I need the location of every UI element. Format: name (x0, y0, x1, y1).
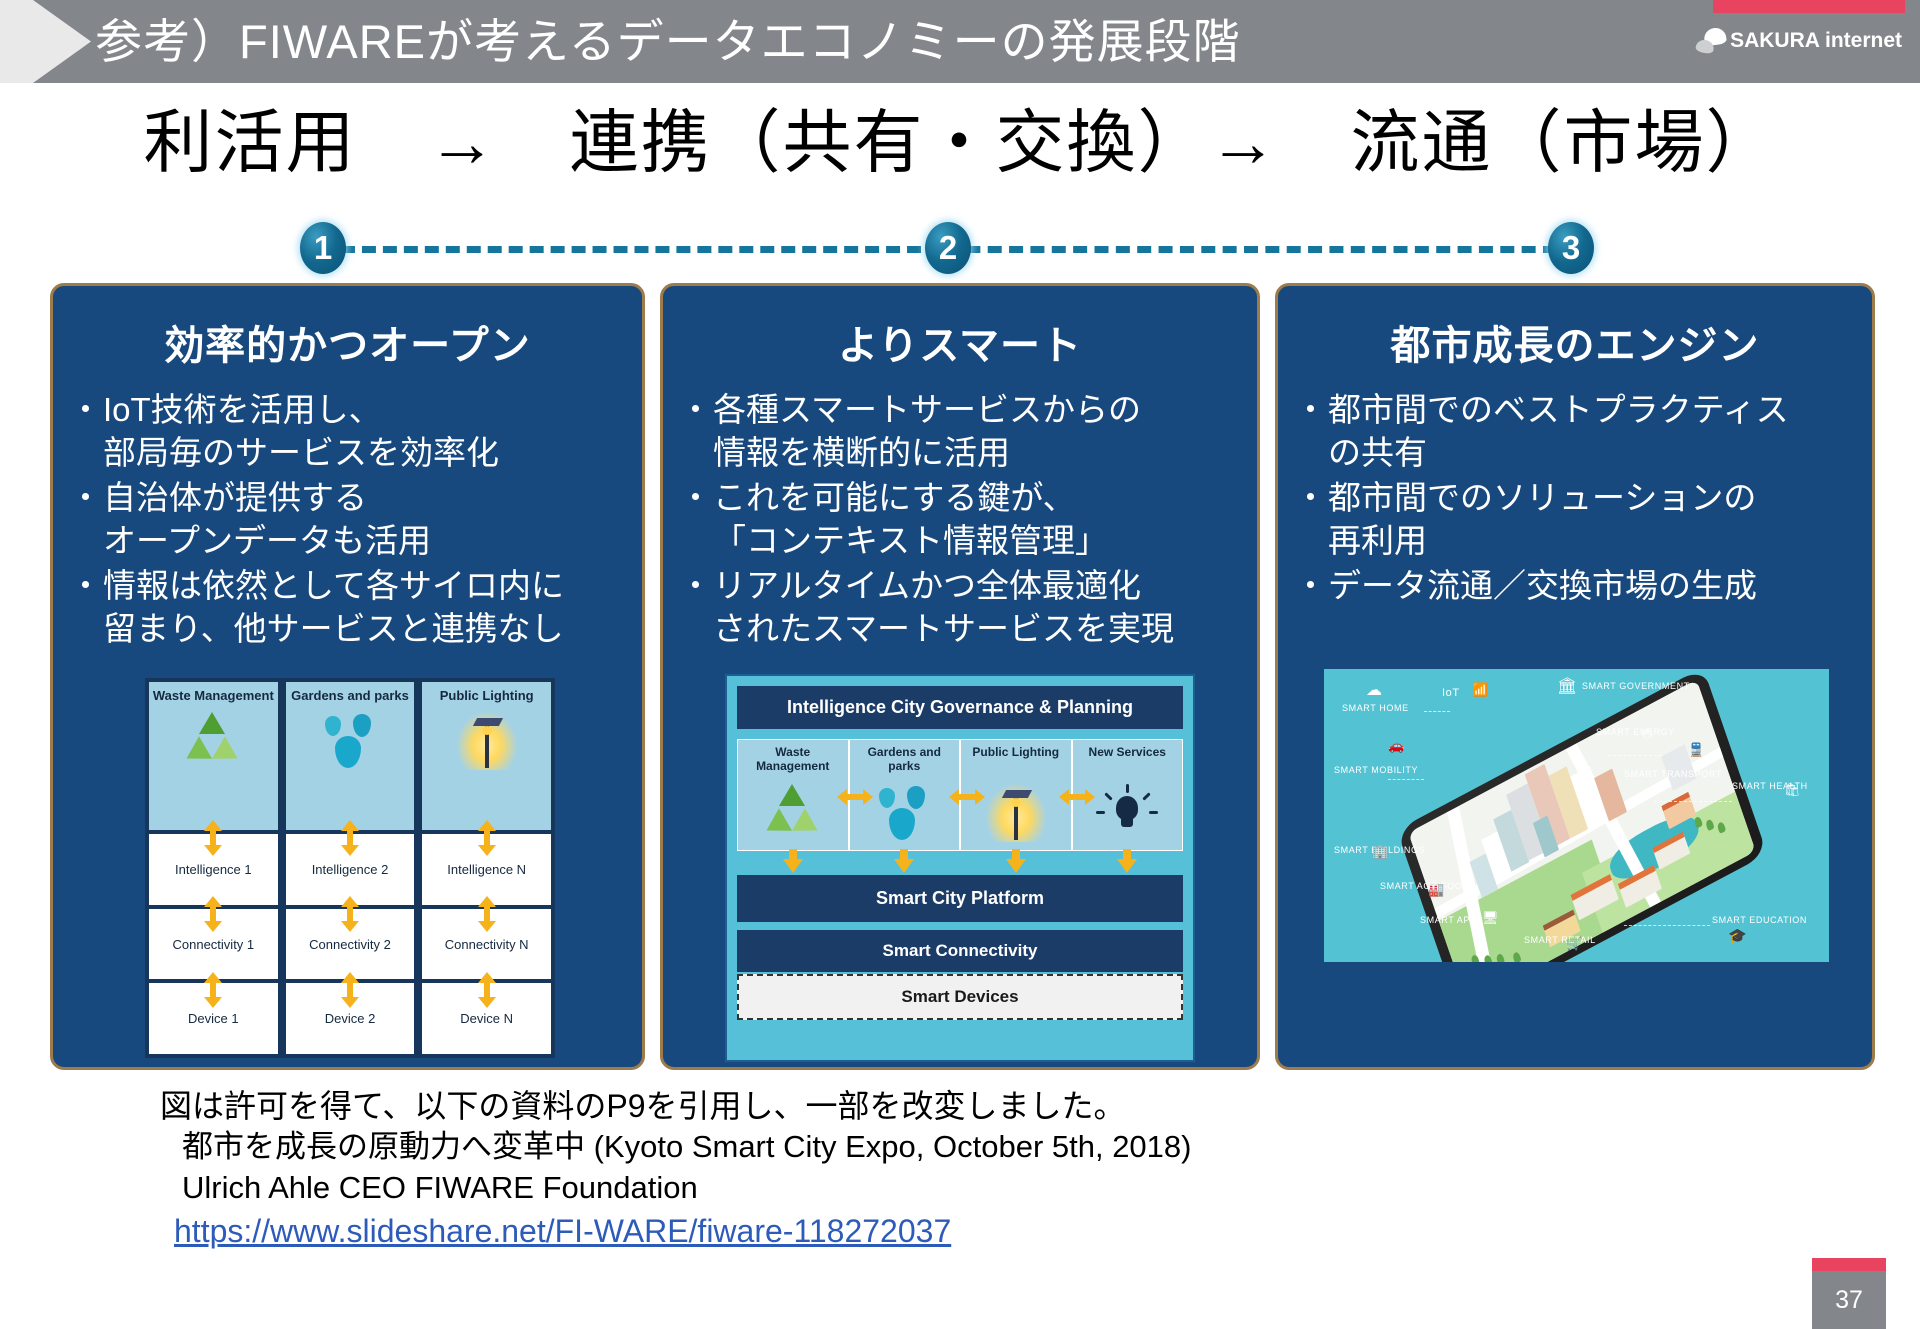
card-3-title: 都市成長のエンジン (1278, 313, 1872, 371)
barn-icon: 🏭 (1428, 883, 1444, 896)
down-arrow-row (737, 849, 1183, 873)
step-badge-2: 2 (925, 222, 971, 274)
power-icon: ⏻ (1642, 727, 1652, 740)
footnote-line-2: 都市を成長の原動力へ変革中 (Kyoto Smart City Expo, Oc… (160, 1127, 1560, 1168)
platform-diagram-figure: Intelligence City Governance & Planning … (725, 674, 1195, 1062)
iot-label: IoT (1442, 687, 1460, 700)
bullet-line: 情報を横断的に活用 (713, 432, 1249, 475)
water-drops-icon (873, 784, 935, 842)
main-headline: 利活用 → 連携（共有・交換）→ 流通（市場） (0, 86, 1920, 186)
governance-bar: Intelligence City Governance & Planning (737, 686, 1183, 729)
office-building-icon: 🏢 (1372, 845, 1388, 858)
silo-column: Waste Management Intelligence 1 Connecti… (147, 680, 284, 1056)
step-badge-1: 1 (300, 222, 346, 274)
connectivity-bar: Smart Connectivity (737, 930, 1183, 972)
bullet-line: これを可能にする鍵が、 (713, 479, 1076, 516)
medical-kit-icon: 🛍 (1784, 783, 1801, 796)
up-down-arrow-icon (202, 820, 224, 856)
header-pink-accent (1713, 0, 1905, 13)
bullet-line: 都市間でのベストプラクティス (1328, 391, 1789, 428)
bullet-line: されたスマートサービスを実現 (713, 608, 1249, 651)
stage-card-2: よりスマート 各種スマートサービスからの 情報を横断的に活用 これを可能にする鍵… (660, 283, 1260, 1070)
list-item: 都市間でのソリューションの 再利用 (1296, 477, 1864, 562)
smart-education-label: SMART EDUCATION (1712, 915, 1807, 926)
service-label: New Services (1089, 746, 1166, 776)
up-down-arrow-icon (476, 820, 498, 856)
source-link[interactable]: https://www.slideshare.net/FI-WARE/fiwar… (160, 1209, 1560, 1253)
silo-header: Public Lighting (420, 680, 553, 832)
cherry-blossom-icon (1696, 28, 1726, 54)
up-down-arrow-icon (339, 820, 361, 856)
list-item: 都市間でのベストプラクティス の共有 (1296, 389, 1864, 474)
up-down-arrow-icon (202, 896, 224, 932)
service-box: Waste Management (737, 739, 849, 851)
smart-home-label: SMART HOME (1342, 703, 1409, 714)
silo-column: Gardens and parks Intelligence 2 Connect… (284, 680, 421, 1056)
card-2-bullets: 各種スマートサービスからの 情報を横断的に活用 これを可能にする鍵が、 「コンテ… (663, 389, 1257, 650)
bullet-line: 留まり、他サービスと連携なし (103, 608, 634, 651)
bullet-line: 自治体が提供する (103, 479, 367, 516)
platform-bar: Smart City Platform (737, 875, 1183, 922)
left-right-arrow-icon (837, 788, 873, 806)
service-label: Waste Management (740, 746, 846, 776)
street-lamp-icon (986, 784, 1046, 842)
up-down-arrow-icon (476, 896, 498, 932)
list-item: リアルタイムかつ全体最適化 されたスマートサービスを実現 (681, 565, 1249, 650)
bullet-line: 各種スマートサービスからの (713, 391, 1141, 428)
silo-header: Waste Management (147, 680, 280, 832)
train-icon: 🚆 (1688, 743, 1704, 756)
smart-government-label: SMART GOVERNMENT (1582, 681, 1690, 693)
footnote-line-1: 図は許可を得て、以下の資料のP9を引用し、一部を改変しました。 (160, 1085, 1560, 1127)
list-item: 各種スマートサービスからの 情報を横断的に活用 (681, 389, 1249, 474)
bullet-line: の共有 (1328, 432, 1864, 475)
cloud-icon: ☁ (1366, 683, 1382, 699)
list-item: これを可能にする鍵が、 「コンテキスト情報管理」 (681, 477, 1249, 562)
service-row: Waste Management Gardens and parks Publi… (737, 739, 1183, 851)
page-number-badge: 37 (1812, 1258, 1886, 1329)
recycle-icon (763, 784, 823, 840)
page-number-accent (1812, 1258, 1886, 1271)
bullet-line: 再利用 (1328, 520, 1864, 563)
bullet-line: 都市間でのソリューションの (1328, 479, 1756, 516)
silo-diagram-figure: Waste Management Intelligence 1 Connecti… (145, 678, 555, 1058)
page-number-value: 37 (1812, 1271, 1886, 1329)
list-item: 情報は依然として各サイロ内に 留まり、他サービスと連携なし (71, 565, 634, 650)
bullet-line: オープンデータも活用 (103, 520, 634, 563)
stage-card-3: 都市成長のエンジン 都市間でのベストプラクティス の共有 都市間でのソリューショ… (1275, 283, 1875, 1070)
service-label: Gardens and parks (852, 746, 958, 776)
card-1-title: 効率的かつオープン (53, 313, 642, 371)
down-arrow-icon (1006, 849, 1026, 873)
water-drops-icon (319, 712, 381, 770)
graduation-cap-icon: 🎓 (1728, 929, 1747, 944)
bullet-line: リアルタイムかつ全体最適化 (713, 567, 1141, 604)
slide-header: 参考）FIWAREが考えるデータエコノミーの発展段階 SAKURA intern… (0, 0, 1920, 83)
silo-column: Public Lighting Intelligence N Connectiv… (420, 680, 553, 1056)
street-lamp-icon (457, 712, 517, 770)
shopping-cart-icon: 🛒 (1566, 937, 1582, 950)
wifi-icon: 📶 (1472, 683, 1488, 696)
bank-icon: 🏛 (1557, 679, 1577, 695)
card-1-bullets: IoT技術を活用し、 部局毎のサービスを効率化 自治体が提供する オープンデータ… (53, 389, 642, 650)
smart-mobility-label: SMART MOBILITY (1334, 765, 1418, 776)
stage-card-1: 効率的かつオープン IoT技術を活用し、 部局毎のサービスを効率化 自治体が提供… (50, 283, 645, 1070)
car-icon: 🚗 (1388, 739, 1404, 752)
silo-header-label: Gardens and parks (291, 689, 409, 704)
devices-bar: Smart Devices (737, 974, 1183, 1020)
left-right-arrow-icon (949, 788, 985, 806)
step-badge-3: 3 (1548, 222, 1594, 274)
service-label: Public Lighting (972, 746, 1059, 776)
down-arrow-icon (783, 849, 803, 873)
silo-header: Gardens and parks (284, 680, 417, 832)
bullet-line: 「コンテキスト情報管理」 (713, 520, 1249, 563)
card-2-title: よりスマート (663, 313, 1257, 371)
step-indicator-row: 1 2 3 (0, 222, 1920, 274)
up-down-arrow-icon (339, 896, 361, 932)
up-down-arrow-icon (202, 972, 224, 1008)
list-item: IoT技術を活用し、 部局毎のサービスを効率化 (71, 389, 634, 474)
step-connector-2-3 (945, 246, 1557, 253)
smart-apps-label: SMART APPS (1420, 915, 1483, 926)
left-right-arrow-icon (1059, 788, 1095, 806)
list-item: 自治体が提供する オープンデータも活用 (71, 477, 634, 562)
smart-agrifood-label: SMART AGRIFOOD (1380, 881, 1470, 893)
bullet-line: 部局毎のサービスを効率化 (103, 432, 634, 475)
list-item: データ流通／交換市場の生成 (1296, 565, 1864, 608)
smart-energy-label: SMART ENERGY (1596, 727, 1675, 739)
light-bulb-icon (1099, 784, 1155, 840)
recycle-icon (183, 712, 243, 768)
bullet-line: IoT技術を活用し、 (103, 391, 382, 428)
card-3-bullets: 都市間でのベストプラクティス の共有 都市間でのソリューションの 再利用 データ… (1278, 389, 1872, 608)
down-arrow-icon (1117, 849, 1137, 873)
bullet-line: 情報は依然として各サイロ内に (103, 567, 564, 604)
up-down-arrow-icon (339, 972, 361, 1008)
silo-header-label: Public Lighting (440, 689, 534, 704)
logo-label: SAKURA internet (1730, 29, 1902, 53)
smart-transport-label: SMART TRANSPORT (1624, 769, 1722, 780)
step-connector-1-2 (320, 246, 942, 253)
footnote-line-3: Ulrich Ahle CEO FIWARE Foundation (160, 1168, 1560, 1209)
page-title: 参考）FIWAREが考えるデータエコノミーの発展段階 (95, 5, 1241, 78)
bullet-line: データ流通／交換市場の生成 (1328, 567, 1757, 604)
smart-city-illustration-figure: ☁ SMART HOME IoT 📶 🏛 SMART GOVERNMENT SM… (1324, 669, 1829, 962)
down-arrow-icon (894, 849, 914, 873)
footnote-block: 図は許可を得て、以下の資料のP9を引用し、一部を改変しました。 都市を成長の原動… (160, 1085, 1560, 1253)
up-down-arrow-icon (476, 972, 498, 1008)
silo-header-label: Waste Management (153, 689, 274, 704)
sakura-internet-logo: SAKURA internet (1696, 28, 1902, 54)
smart-retail-label: SMART RETAIL (1524, 935, 1596, 947)
app-window-icon: 🖥 (1482, 911, 1499, 924)
